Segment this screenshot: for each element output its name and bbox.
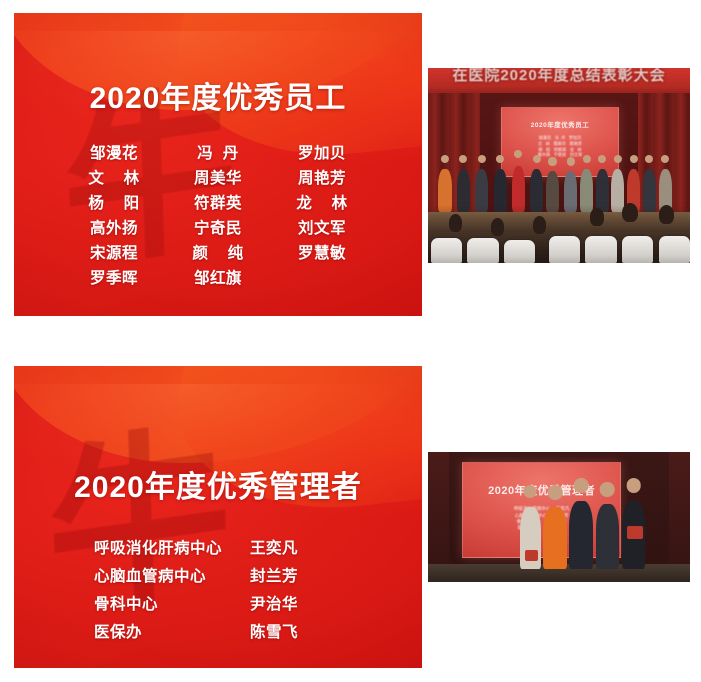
stage-banner-text: 在医院2020年度总结表彰大会 xyxy=(428,68,690,89)
manager-name: 王奕凡 xyxy=(250,538,342,560)
manager-department: 呼吸消化肝病中心 xyxy=(94,538,244,560)
audience-head xyxy=(622,203,638,223)
audience-head xyxy=(533,216,546,234)
auditorium-seat xyxy=(549,236,580,263)
projection-screen-title: 2020年度优秀管理者 xyxy=(463,482,620,498)
wall-panel-left xyxy=(428,452,449,582)
manager-name: 尹治华 xyxy=(250,594,342,616)
slide-employee-title: 2020年度优秀员工 xyxy=(90,73,347,117)
employee-name: 龙 林 xyxy=(270,193,374,214)
slide-employee[interactable]: 牛 2020年度优秀员工 邹漫花 冯 丹 罗加贝 文 林 周美华 周艳芳 杨 阳… xyxy=(14,13,422,316)
auditorium-seat xyxy=(659,236,690,263)
slide-manager-title: 2020年度优秀管理者 xyxy=(74,462,362,506)
auditorium-seat xyxy=(504,240,535,263)
manager-name: 陈雪飞 xyxy=(250,622,342,644)
employee-name: 罗加贝 xyxy=(270,143,374,164)
manager-department: 骨科中心 xyxy=(94,594,244,616)
audience-head xyxy=(449,214,462,232)
audience-head xyxy=(590,208,603,226)
photo-employee-ceremony[interactable]: 在医院2020年度总结表彰大会 2020年度优秀员工 邹漫花 冯 丹 罗加贝 文… xyxy=(428,68,690,263)
employee-name: 邹漫花 xyxy=(62,143,166,164)
manager-department: 医保办 xyxy=(94,622,244,644)
employee-name-grid: 邹漫花 冯 丹 罗加贝 文 林 周美华 周艳芳 杨 阳 符群英 龙 林 高外扬 … xyxy=(62,143,374,289)
employee-name: 罗慧敏 xyxy=(270,243,374,264)
auditorium-scene: 2020年度优秀管理者 呼吸消化肝病中心 王奕凡 心脑血管病中心 封兰芳 骨科中… xyxy=(428,452,690,582)
employee-name: 符群英 xyxy=(166,193,270,214)
photo-manager-ceremony[interactable]: 2020年度优秀管理者 呼吸消化肝病中心 王奕凡 心脑血管病中心 封兰芳 骨科中… xyxy=(428,452,690,582)
projection-screen-title: 2020年度优秀员工 xyxy=(502,119,617,129)
audience-head xyxy=(659,205,675,225)
auditorium-scene: 在医院2020年度总结表彰大会 2020年度优秀员工 邹漫花 冯 丹 罗加贝 文… xyxy=(428,68,690,263)
employee-name: 邹红旗 xyxy=(166,268,270,289)
award-certificate xyxy=(627,526,643,539)
slide-manager[interactable]: 牛 2020年度优秀管理者 呼吸消化肝病中心 王奕凡 心脑血管病中心 封兰芳 骨… xyxy=(14,366,422,668)
manager-department: 心脑血管病中心 xyxy=(94,566,244,588)
award-certificate xyxy=(525,550,538,562)
manager-list: 呼吸消化肝病中心 王奕凡 心脑血管病中心 封兰芳 骨科中心 尹治华 医保办 陈雪… xyxy=(94,538,342,644)
auditorium-seat xyxy=(585,236,616,263)
auditorium-seat xyxy=(622,236,653,263)
employee-name: 冯 丹 xyxy=(166,143,270,164)
auditorium-seat xyxy=(467,238,498,263)
slide-manager-content: 2020年度优秀管理者 呼吸消化肝病中心 王奕凡 心脑血管病中心 封兰芳 骨科中… xyxy=(14,366,422,668)
employee-name: 宋源程 xyxy=(62,243,166,264)
audience-head xyxy=(491,218,504,236)
manager-name: 封兰芳 xyxy=(250,566,342,588)
employee-name: 杨 阳 xyxy=(62,193,166,214)
employee-name: 周艳芳 xyxy=(270,168,374,189)
auditorium-seat xyxy=(431,238,462,263)
employee-name: 文 林 xyxy=(62,168,166,189)
slide-employee-content: 2020年度优秀员工 邹漫花 冯 丹 罗加贝 文 林 周美华 周艳芳 杨 阳 符… xyxy=(14,13,422,316)
employee-name: 周美华 xyxy=(166,168,270,189)
employee-name: 罗季晖 xyxy=(62,268,166,289)
employee-name: 宁奇民 xyxy=(166,218,270,239)
wall-panel-right xyxy=(669,452,690,582)
manager-awardee xyxy=(543,507,567,569)
manager-awardee xyxy=(569,501,593,569)
employee-name: 刘文军 xyxy=(270,218,374,239)
employee-name: 高外扬 xyxy=(62,218,166,239)
manager-awardee xyxy=(596,504,620,569)
employee-name: 颜 纯 xyxy=(166,243,270,264)
